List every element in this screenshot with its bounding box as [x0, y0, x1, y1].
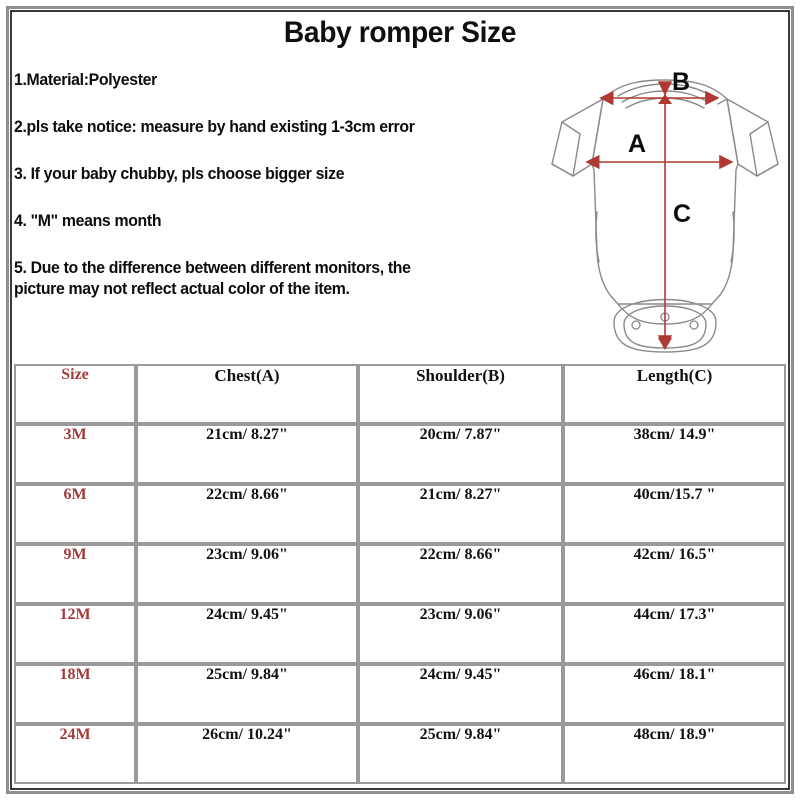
cell-size: 3M — [14, 424, 136, 484]
note-item-3: 3. If your baby chubby, pls choose bigge… — [14, 164, 513, 185]
cell-length: 40cm/15.7 " — [563, 484, 786, 544]
header-length: Length(C) — [563, 364, 786, 424]
cell-length: 46cm/ 18.1" — [563, 664, 786, 724]
table-row: 6M 22cm/ 8.66" 21cm/ 8.27" 40cm/15.7 " — [14, 484, 786, 544]
note-item-2: 2.pls take notice: measure by hand exist… — [14, 117, 513, 138]
cell-size: 24M — [14, 724, 136, 784]
table-row: 3M 21cm/ 8.27" 20cm/ 7.87" 38cm/ 14.9" — [14, 424, 786, 484]
right-sleeve-outline — [727, 99, 778, 176]
header-chest: Chest(A) — [136, 364, 358, 424]
header-shoulder: Shoulder(B) — [358, 364, 563, 424]
left-sleeve-outline — [552, 99, 603, 176]
cell-length: 48cm/ 18.9" — [563, 724, 786, 784]
cell-chest: 23cm/ 9.06" — [136, 544, 358, 604]
cell-shoulder: 23cm/ 9.06" — [358, 604, 563, 664]
table-row: 18M 25cm/ 9.84" 24cm/ 9.45" 46cm/ 18.1" — [14, 664, 786, 724]
cell-length: 44cm/ 17.3" — [563, 604, 786, 664]
label-b: B — [672, 68, 690, 96]
cell-length: 42cm/ 16.5" — [563, 544, 786, 604]
cell-chest: 25cm/ 9.84" — [136, 664, 358, 724]
table-row: 9M 23cm/ 9.06" 22cm/ 8.66" 42cm/ 16.5" — [14, 544, 786, 604]
cell-size: 9M — [14, 544, 136, 604]
note-item-1: 1.Material:Polyester — [14, 70, 513, 91]
cell-chest: 24cm/ 9.45" — [136, 604, 358, 664]
cell-shoulder: 25cm/ 9.84" — [358, 724, 563, 784]
cell-chest: 22cm/ 8.66" — [136, 484, 358, 544]
note-item-4: 4. "M" means month — [14, 211, 513, 232]
table-row: 24M 26cm/ 10.24" 25cm/ 9.84" 48cm/ 18.9" — [14, 724, 786, 784]
table-header-row: Size Chest(A) Shoulder(B) Length(C) — [14, 364, 786, 424]
size-table: Size Chest(A) Shoulder(B) Length(C) 3M 2… — [14, 364, 786, 784]
cell-shoulder: 21cm/ 8.27" — [358, 484, 563, 544]
cell-shoulder: 20cm/ 7.87" — [358, 424, 563, 484]
cell-size: 12M — [14, 604, 136, 664]
cell-chest: 26cm/ 10.24" — [136, 724, 358, 784]
cell-size: 18M — [14, 664, 136, 724]
page-title: Baby romper Size — [24, 16, 776, 50]
notes-list: 1.Material:Polyester 2.pls take notice: … — [14, 70, 534, 300]
cell-length: 38cm/ 14.9" — [563, 424, 786, 484]
table-row: 12M 24cm/ 9.45" 23cm/ 9.06" 44cm/ 17.3" — [14, 604, 786, 664]
romper-diagram: B A C — [540, 52, 790, 357]
cell-shoulder: 22cm/ 8.66" — [358, 544, 563, 604]
arrowhead-c-top — [658, 94, 672, 104]
cell-size: 6M — [14, 484, 136, 544]
label-c: C — [673, 200, 691, 228]
header-size: Size — [14, 364, 136, 424]
cell-shoulder: 24cm/ 9.45" — [358, 664, 563, 724]
size-chart-page: Baby romper Size 1.Material:Polyester 2.… — [0, 0, 800, 800]
note-item-5: 5. Due to the difference between differe… — [14, 258, 513, 300]
cell-chest: 21cm/ 8.27" — [136, 424, 358, 484]
label-a: A — [628, 130, 646, 158]
